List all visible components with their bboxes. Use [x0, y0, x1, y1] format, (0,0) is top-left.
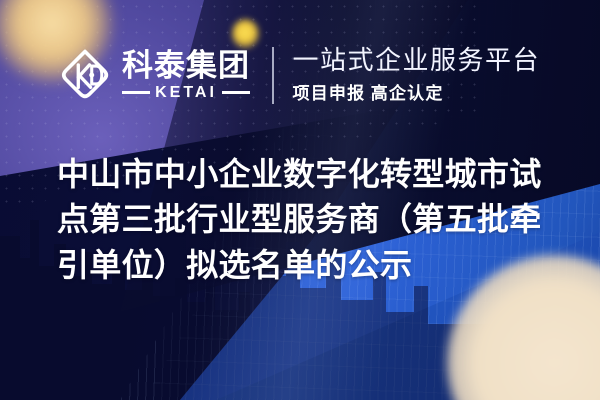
- left-dash-icon: [122, 91, 150, 94]
- header-divider: [272, 47, 274, 104]
- brand-name-cn: 科泰集团: [122, 50, 250, 81]
- page-title: 中山市中小企业数字化转型城市试点第三批行业型服务商（第五批牵引单位）拟选名单的公…: [57, 152, 569, 288]
- banner-header: 科泰集团 KETAI 一站式企业服务平台 项目申报 高企认定: [0, 36, 600, 114]
- brand-name-en-row: KETAI: [122, 85, 250, 101]
- ketai-diamond-kd-monogram-icon: [57, 47, 113, 103]
- tagline-secondary: 项目申报 高企认定: [293, 79, 541, 104]
- promotional-banner: 科泰集团 KETAI 一站式企业服务平台 项目申报 高企认定 中山市中小企业数字…: [0, 0, 600, 400]
- tagline-block: 一站式企业服务平台 项目申报 高企认定: [293, 46, 541, 104]
- right-dash-icon: [222, 91, 250, 94]
- tagline-primary: 一站式企业服务平台: [293, 46, 541, 75]
- brand-logo-wordmark: 科泰集团 KETAI: [122, 50, 250, 101]
- brand-name-en: KETAI: [155, 85, 217, 101]
- brand-logo[interactable]: 科泰集团 KETAI: [57, 47, 250, 103]
